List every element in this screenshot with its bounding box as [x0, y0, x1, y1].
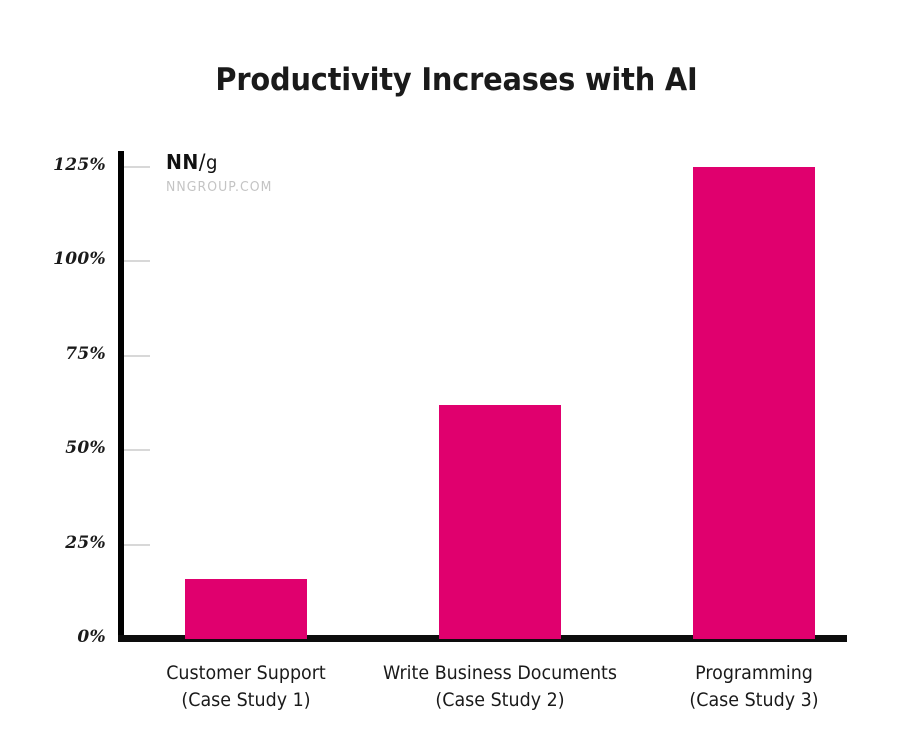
nng-wordmark: NN/g	[166, 151, 356, 174]
x-axis-category-label: Customer Support(Case Study 1)	[99, 660, 393, 714]
nng-mark-slash: /	[199, 150, 206, 174]
bar-chart-figure: Productivity Increases with AI 0%25%50%7…	[0, 0, 913, 754]
y-axis-tick-label: 0%	[77, 627, 106, 647]
x-axis-category-label: Programming(Case Study 3)	[607, 660, 901, 714]
y-axis-tick-label: 50%	[65, 438, 106, 458]
nng-url: NNGROUP.COM	[166, 180, 358, 195]
plot-area	[122, 152, 847, 639]
y-axis-tick-label: 25%	[65, 533, 106, 553]
y-axis-tick-label: 75%	[65, 344, 106, 364]
x-axis-category-label-line: (Case Study 2)	[353, 687, 647, 714]
nng-logo: NN/g NNGROUP.COM	[166, 151, 366, 195]
x-axis-category-label-line: Programming	[607, 660, 901, 687]
nng-mark-nn: NN	[166, 150, 199, 174]
bar	[185, 579, 307, 639]
nng-mark-g: g	[206, 152, 218, 174]
x-axis-category-label-line: Customer Support	[99, 660, 393, 687]
bar	[693, 167, 815, 639]
x-axis-category-label: Write Business Documents(Case Study 2)	[353, 660, 647, 714]
y-axis-tick-label: 100%	[53, 249, 106, 269]
y-axis-tick-label: 125%	[53, 155, 106, 175]
x-axis-category-label-line: (Case Study 3)	[607, 687, 901, 714]
x-axis-category-label-line: (Case Study 1)	[99, 687, 393, 714]
chart-title: Productivity Increases with AI	[32, 62, 881, 98]
bar	[439, 405, 561, 639]
x-axis-category-label-line: Write Business Documents	[353, 660, 647, 687]
